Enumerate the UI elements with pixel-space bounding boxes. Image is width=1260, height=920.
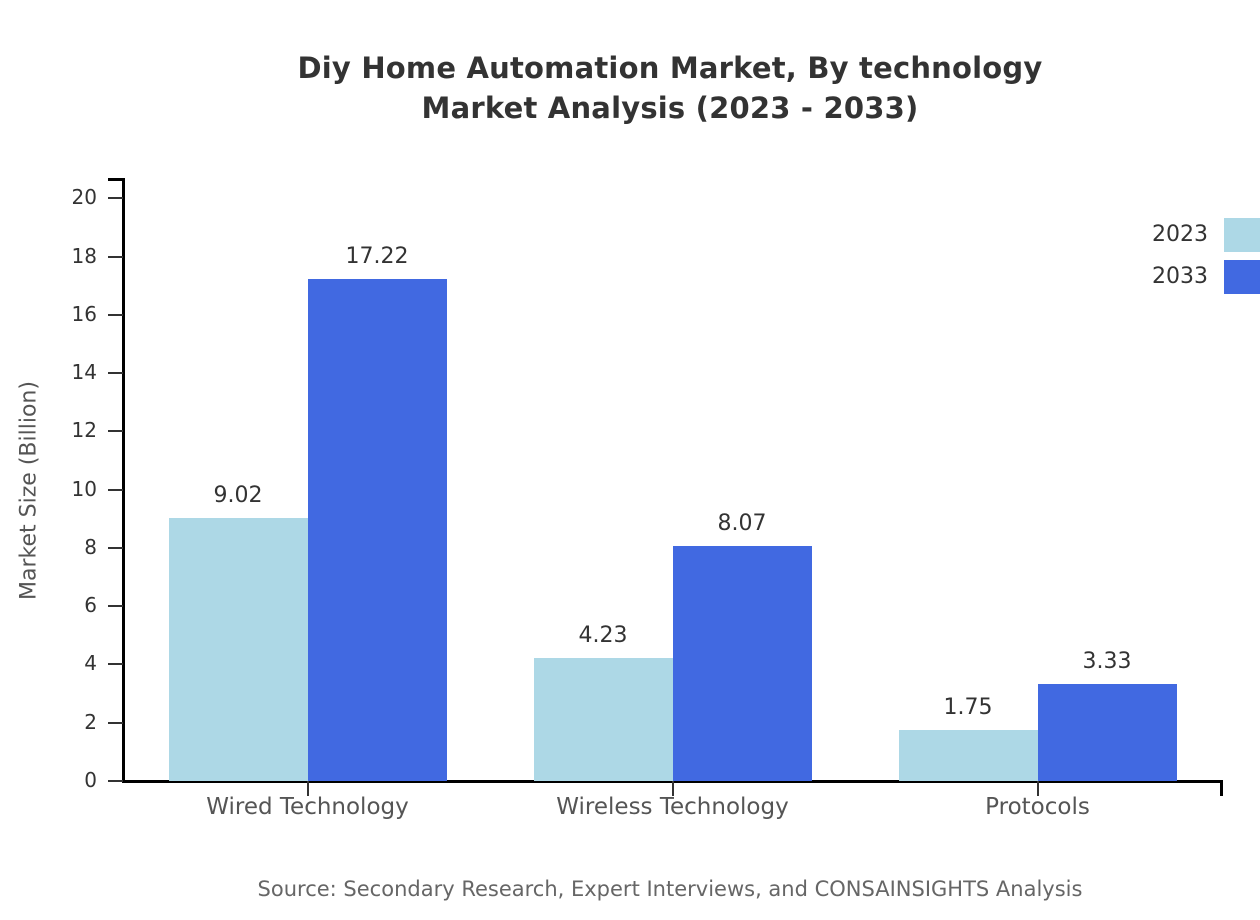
y-tick-14 — [108, 372, 123, 374]
y-tick-label-6: 6 — [37, 595, 97, 615]
y-tick-4 — [108, 663, 123, 665]
bar-value-label-2023-0: 9.02 — [214, 483, 263, 508]
chart-title: Diy Home Automation Market, By technolog… — [0, 48, 1260, 128]
x-tick-label-1: Wireless Technology — [556, 794, 788, 820]
x-tick-label-0: Wired Technology — [206, 794, 408, 820]
bar-value-label-2033-1: 8.07 — [718, 511, 767, 536]
y-tick-20 — [108, 197, 123, 199]
y-tick-2 — [108, 722, 123, 724]
bar-2023-protocols[interactable] — [899, 730, 1038, 781]
bar-2023-wireless-technology[interactable] — [534, 658, 673, 781]
bar-value-label-2033-0: 17.22 — [346, 244, 409, 269]
y-tick-0 — [108, 780, 123, 782]
y-tick-18 — [108, 256, 123, 258]
x-axis-end-cap — [1220, 780, 1223, 796]
y-tick-label-14: 14 — [37, 362, 97, 382]
y-tick-label-12: 12 — [37, 420, 97, 440]
legend: 2023 2033 — [1100, 218, 1260, 302]
bar-2033-wireless-technology[interactable] — [673, 546, 812, 781]
x-tick-label-2: Protocols — [985, 794, 1090, 820]
y-tick-label-16: 16 — [37, 304, 97, 324]
y-tick-6 — [108, 605, 123, 607]
bar-value-label-2023-2: 1.75 — [944, 695, 993, 720]
y-tick-16 — [108, 314, 123, 316]
bar-2023-wired-technology[interactable] — [169, 518, 308, 781]
y-tick-label-4: 4 — [37, 653, 97, 673]
y-tick-label-10: 10 — [37, 479, 97, 499]
y-tick-label-20: 20 — [37, 187, 97, 207]
y-tick-8 — [108, 547, 123, 549]
bar-value-label-2023-1: 4.23 — [579, 623, 628, 648]
legend-item-2033[interactable]: 2033 — [1100, 260, 1260, 302]
bar-chart: Diy Home Automation Market, By technolog… — [0, 0, 1260, 920]
bar-value-label-2033-2: 3.33 — [1083, 649, 1132, 674]
source-note: Source: Secondary Research, Expert Inter… — [0, 877, 1260, 901]
plot-area — [122, 178, 1220, 781]
y-tick-label-0: 0 — [37, 770, 97, 790]
y-tick-12 — [108, 430, 123, 432]
legend-label-2023: 2023 — [1100, 223, 1208, 247]
chart-title-line-1: Diy Home Automation Market, By technolog… — [298, 51, 1043, 85]
legend-label-2033: 2033 — [1100, 265, 1208, 289]
y-tick-label-2: 2 — [37, 712, 97, 732]
chart-title-line-2: Market Analysis (2023 - 2033) — [0, 88, 1260, 128]
y-tick-10 — [108, 489, 123, 491]
y-tick-label-18: 18 — [37, 246, 97, 266]
legend-item-2023[interactable]: 2023 — [1100, 218, 1260, 260]
bar-2033-wired-technology[interactable] — [308, 279, 447, 781]
legend-swatch-2023 — [1224, 218, 1260, 252]
bar-2033-protocols[interactable] — [1038, 684, 1177, 781]
y-tick-label-8: 8 — [37, 537, 97, 557]
legend-swatch-2033 — [1224, 260, 1260, 294]
